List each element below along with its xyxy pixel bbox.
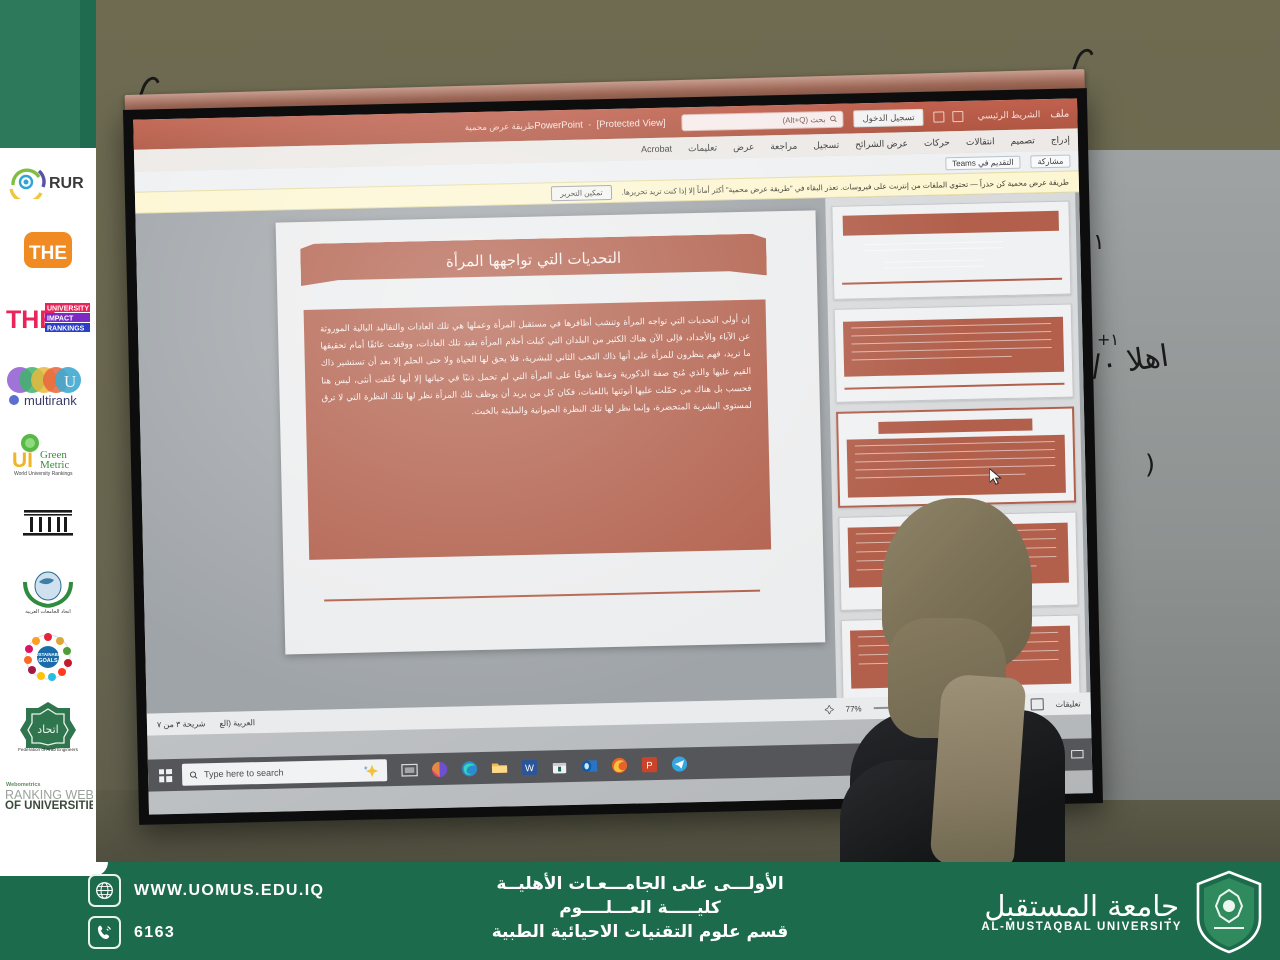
present-in-teams-button[interactable]: التقديم في Teams — [945, 155, 1021, 170]
svg-text:SUSTAINABLE: SUSTAINABLE — [33, 652, 64, 657]
tab-help[interactable]: تعليمات — [688, 142, 717, 154]
start-button[interactable] — [152, 762, 179, 789]
enable-editing-button[interactable]: تمكين التحرير — [551, 184, 612, 200]
tab-design[interactable]: تصميم — [1010, 135, 1034, 147]
svg-text:GOALS: GOALS — [38, 658, 58, 664]
sdg-logo: SUSTAINABLE GOALS — [0, 626, 96, 690]
thumbnail-slide-1[interactable]: 1 — [831, 201, 1071, 300]
slide-divider-line — [324, 590, 760, 602]
university-footer-banner: WWW.UOMUS.EDU.IQ 6163 الأولـــى على الجا… — [0, 862, 1280, 960]
svg-text:RANKINGS: RANKINGS — [47, 326, 85, 333]
main-ribbon-label[interactable]: الشريط الرئيسي — [977, 109, 1040, 121]
svg-text:THE: THE — [29, 243, 67, 264]
unesco-temple-icon — [20, 504, 76, 540]
language-indicator[interactable]: العربية (الع — [219, 718, 255, 728]
mouse-cursor-icon — [989, 468, 1002, 485]
save-icon[interactable] — [952, 110, 963, 121]
whiteboard: ١ +١ اهلا ٠/٠ ) — [1075, 150, 1280, 800]
globe-icon — [95, 881, 114, 900]
footer-phone-row[interactable]: 6163 — [88, 916, 324, 949]
rankings-logo-list: RUR RUR THE THE UNIVERSITY IMPACT — [0, 150, 96, 830]
slide-title-text: التحديات التي تواجهها المرأة — [446, 249, 622, 271]
brand-name-arabic: جامعة المستقبل — [981, 892, 1182, 921]
rur-logo: RUR RUR — [0, 150, 96, 214]
footer-contact-group: WWW.UOMUS.EDU.IQ 6163 — [88, 874, 324, 949]
app-name: PowerPoint — [534, 119, 583, 131]
svg-text:اتحاد: اتحاد — [37, 723, 58, 736]
federation-arab-engineers-icon: اتحاد Federation of Arab Engineers — [16, 700, 80, 752]
undo-icon[interactable] — [933, 111, 944, 122]
svg-text:UI: UI — [12, 449, 33, 472]
strip-green-band-inner — [0, 0, 80, 148]
slide-body-text[interactable]: إن أولى التحديات التي تواجه المرأة وتنشب… — [304, 299, 772, 559]
svg-text:RUR: RUR — [49, 175, 84, 192]
search-icon — [189, 770, 198, 779]
svg-text:اتحاد الجامعات العربية: اتحاد الجامعات العربية — [25, 609, 71, 614]
rur-logo-icon: RUR — [9, 165, 87, 199]
ui-greenmetric-logo: UI Green Metric World University Ranking… — [0, 422, 96, 486]
windows-logo-icon — [158, 769, 171, 782]
copilot-sparkle-icon — [364, 764, 380, 777]
tab-view[interactable]: عرض — [733, 141, 754, 152]
university-crest-icon — [1192, 870, 1266, 954]
svg-text:P: P — [646, 760, 653, 771]
search-box[interactable]: بحث (Alt+Q) — [681, 110, 843, 131]
slide-title-banner[interactable]: التحديات التي تواجهها المرأة — [300, 233, 767, 286]
tab-animations[interactable]: حركات — [924, 137, 950, 149]
store-icon[interactable] — [551, 758, 568, 775]
multirank-logo-icon: U multirank — [4, 365, 92, 407]
protected-view-label: [Protected View] — [596, 117, 665, 130]
display-icon[interactable] — [1071, 749, 1084, 760]
the-impact-rankings-icon: THE UNIVERSITY IMPACT RANKINGS — [5, 301, 91, 335]
svg-text:OF UNIVERSITIES: OF UNIVERSITIES — [5, 800, 93, 811]
rankings-logo-strip: RUR RUR THE THE UNIVERSITY IMPACT — [0, 0, 96, 870]
arab-universities-union-logo: اتحاد الجامعات العربية — [0, 558, 96, 622]
svg-text:World University Rankings: World University Rankings — [14, 471, 73, 476]
webometrics-logo: Webometrics RANKING WEB OF UNIVERSITIES — [0, 762, 96, 826]
quick-access-toolbar[interactable] — [933, 110, 963, 122]
taskbar-search-placeholder: Type here to search — [204, 768, 284, 780]
tab-insert[interactable]: إدراج — [1051, 134, 1070, 145]
multirank-logo: U multirank — [0, 354, 96, 418]
word-icon[interactable]: W — [521, 758, 538, 775]
tab-review[interactable]: مراجعة — [770, 140, 797, 152]
svg-text:U: U — [64, 372, 76, 391]
taskbar-search-input[interactable]: Type here to search — [182, 759, 387, 786]
thumbnail-slide-3[interactable]: 3 — [836, 407, 1076, 508]
federation-arab-engineers-logo: اتحاد Federation of Arab Engineers — [0, 694, 96, 758]
the-logo-icon: THE — [22, 230, 74, 270]
phone-badge — [88, 916, 121, 949]
footer-website[interactable]: WWW.UOMUS.EDU.IQ — [134, 882, 324, 900]
iview-watermark: i-View — [948, 98, 981, 103]
svg-text:W: W — [525, 763, 534, 774]
outlook-icon[interactable] — [581, 757, 598, 774]
unesco-logo — [0, 490, 96, 554]
tab-slideshow[interactable]: عرض الشرائح — [855, 138, 908, 150]
edge-icon[interactable] — [461, 760, 478, 777]
phone-icon — [95, 923, 114, 942]
svg-text:multirank: multirank — [24, 393, 77, 407]
copilot-icon[interactable] — [431, 760, 448, 777]
arab-universities-union-icon: اتحاد الجامعات العربية — [17, 566, 79, 614]
the-impact-rankings-logo: THE UNIVERSITY IMPACT RANKINGS — [0, 286, 96, 350]
tab-acrobat[interactable]: Acrobat — [641, 144, 672, 155]
svg-text:UNIVERSITY: UNIVERSITY — [47, 306, 89, 313]
ui-greenmetric-icon: UI Green Metric World University Ranking… — [6, 432, 90, 476]
share-button[interactable]: مشاركة — [1030, 154, 1070, 168]
tab-transitions[interactable]: انتقالات — [966, 136, 995, 148]
svg-text:Metric: Metric — [40, 459, 69, 471]
the-logo: THE — [0, 218, 96, 282]
svg-text:IMPACT: IMPACT — [47, 316, 74, 323]
svg-text:Federation of Arab Engineers: Federation of Arab Engineers — [18, 747, 78, 752]
footer-website-row[interactable]: WWW.UOMUS.EDU.IQ — [88, 874, 324, 907]
sign-in-button[interactable]: تسجيل الدخول — [853, 108, 923, 127]
file-explorer-icon[interactable] — [491, 759, 508, 776]
person-scarf — [929, 673, 1026, 868]
webometrics-icon: Webometrics RANKING WEB OF UNIVERSITIES — [3, 777, 93, 811]
current-slide[interactable]: التحديات التي تواجهها المرأة إن أولى الت… — [276, 210, 826, 654]
firefox-icon[interactable] — [611, 756, 628, 773]
website-badge — [88, 874, 121, 907]
file-menu-label[interactable]: ملف — [1050, 108, 1069, 119]
thumbnail-slide-2[interactable]: 2 — [834, 304, 1074, 403]
powerpoint-icon[interactable]: P — [641, 756, 658, 773]
telegram-icon[interactable] — [671, 755, 688, 772]
task-view-icon[interactable] — [401, 761, 418, 778]
screenshot-root: ١ +١ اهلا ٠/٠ ) ملف الشريط الرئيسي تسجيل… — [0, 0, 1280, 960]
sdg-wheel-icon: SUSTAINABLE GOALS — [22, 633, 74, 683]
footer-phone[interactable]: 6163 — [134, 924, 175, 942]
university-brand: جامعة المستقبل AL-MUSTAQBAL UNIVERSITY — [981, 870, 1266, 954]
person-in-foreground — [840, 498, 1070, 870]
brand-name-english: AL-MUSTAQBAL UNIVERSITY — [981, 921, 1182, 933]
slide-counter: شريحة ٣ من ٧ — [157, 719, 206, 729]
search-icon — [829, 115, 837, 123]
document-title: طريقة عرض محمية — [465, 120, 535, 133]
fit-slide-icon[interactable] — [824, 705, 833, 714]
taskbar-pinned-icons: W — [401, 755, 688, 779]
tab-record[interactable]: تسجيل — [813, 139, 839, 151]
search-placeholder: بحث (Alt+Q) — [782, 115, 825, 125]
